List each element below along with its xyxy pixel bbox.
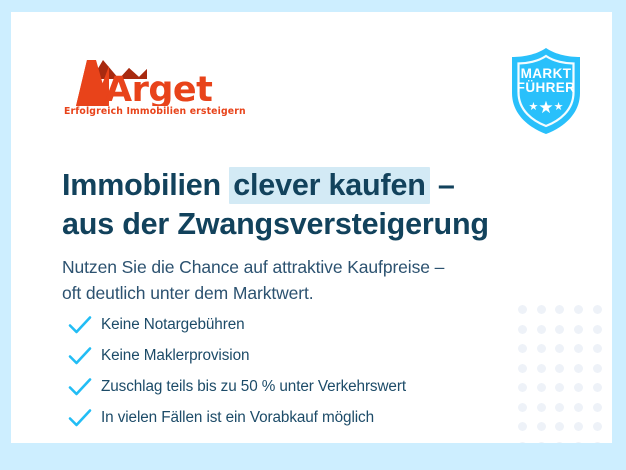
dot	[574, 344, 583, 353]
dot	[537, 422, 546, 431]
dot	[537, 442, 546, 443]
dot	[593, 325, 602, 334]
dot	[574, 422, 583, 431]
list-item-label: In vielen Fällen ist ein Vorabkauf mögli…	[101, 409, 374, 427]
dot	[555, 325, 564, 334]
list-item-label: Keine Notargebühren	[101, 316, 245, 334]
dot	[574, 364, 583, 373]
list-item: Zuschlag teils bis zu 50 % unter Verkehr…	[68, 371, 538, 402]
dot	[593, 364, 602, 373]
dot	[593, 383, 602, 392]
dot	[537, 383, 546, 392]
list-item: In vielen Fällen ist ein Vorabkauf mögli…	[68, 402, 538, 433]
list-item: Keine Maklerprovision	[68, 340, 538, 371]
markt-fuehrer-badge: MARKT FÜHRER ★★★	[500, 45, 592, 137]
dot	[593, 344, 602, 353]
list-item-label: Keine Maklerprovision	[101, 347, 249, 365]
dot	[574, 383, 583, 392]
dot	[537, 364, 546, 373]
dot	[555, 383, 564, 392]
shield-badge-icon	[500, 45, 592, 137]
headline-prefix: Immobilien	[62, 168, 229, 202]
argetra-roof-mark-icon: Argetra	[63, 56, 215, 106]
check-icon	[68, 408, 92, 428]
dot	[555, 344, 564, 353]
dot	[555, 442, 564, 443]
argetra-logo[interactable]: Argetra Erfolgreich Immobilien ersteiger…	[63, 56, 223, 122]
dot	[537, 403, 546, 412]
subtitle-line-2: oft deutlich unter dem Marktwert.	[62, 280, 582, 307]
subtitle-line-1: Nutzen Sie die Chance auf attraktive Kau…	[62, 254, 582, 281]
benefits-list: Keine Notargebühren Keine Maklerprovisio…	[68, 309, 538, 433]
page-title: Immobilien clever kaufen – aus der Zwang…	[62, 166, 582, 244]
dot	[593, 422, 602, 431]
dot	[574, 442, 583, 443]
dot	[555, 422, 564, 431]
logo-tagline: Erfolgreich Immobilien ersteigern	[64, 106, 246, 117]
dot	[593, 442, 602, 443]
dot	[574, 325, 583, 334]
check-icon	[68, 377, 92, 397]
dot	[555, 403, 564, 412]
dot	[574, 403, 583, 412]
check-icon	[68, 346, 92, 366]
headline-highlight: clever kaufen	[229, 167, 429, 204]
headline-line-1: Immobilien clever kaufen –	[62, 166, 582, 205]
check-icon	[68, 315, 92, 335]
promo-card: Argetra Erfolgreich Immobilien ersteiger…	[11, 12, 612, 443]
list-item: Keine Notargebühren	[68, 309, 538, 340]
list-item-label: Zuschlag teils bis zu 50 % unter Verkehr…	[101, 378, 406, 396]
headline-line-2: aus der Zwangsversteigerung	[62, 205, 582, 244]
dot	[555, 364, 564, 373]
dot	[537, 325, 546, 334]
subtitle: Nutzen Sie die Chance auf attraktive Kau…	[62, 254, 582, 307]
dot	[537, 344, 546, 353]
svg-text:Argetra: Argetra	[105, 70, 215, 106]
dot	[593, 305, 602, 314]
headline-suffix: –	[430, 168, 455, 202]
dot	[593, 403, 602, 412]
dot	[518, 442, 527, 443]
